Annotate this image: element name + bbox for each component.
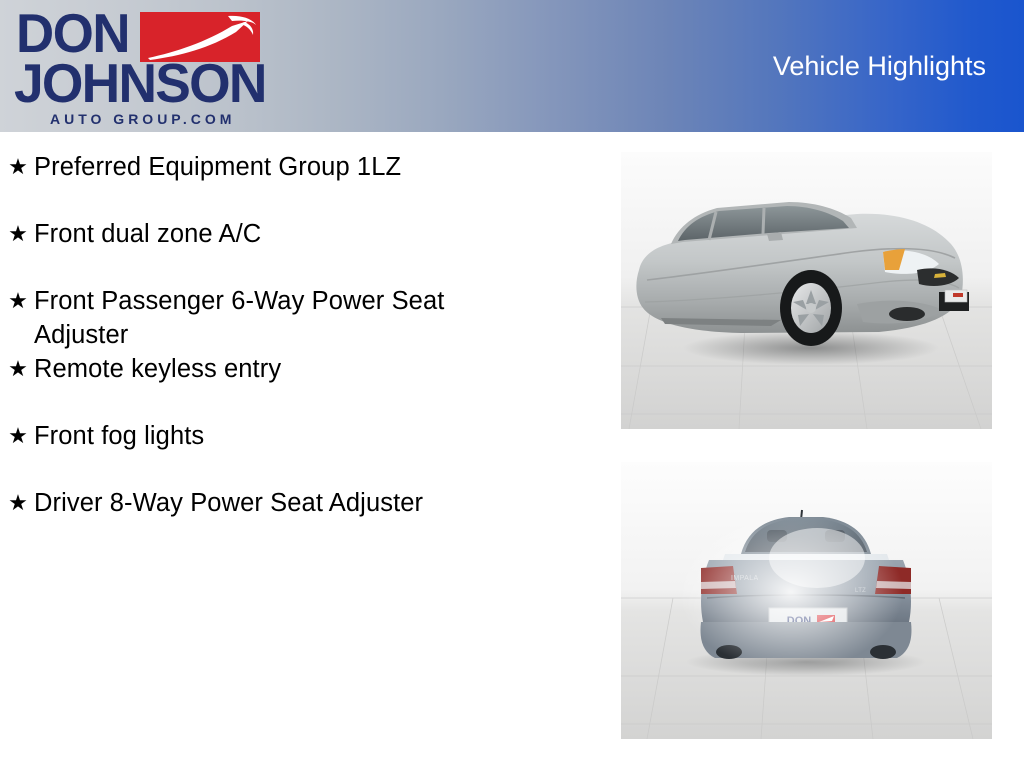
vehicle-features-list: ★ Preferred Equipment Group 1LZ ★ Front …	[0, 150, 600, 553]
vehicle-photo-rear[interactable]: IMPALA LTZ DON JOHNSON	[621, 462, 992, 739]
logo-text-line2: JOHNSON	[14, 56, 266, 111]
star-bullet-icon: ★	[0, 217, 34, 251]
list-item: ★ Preferred Equipment Group 1LZ	[0, 150, 600, 217]
logo-tagline: AUTO GROUP.COM	[50, 112, 235, 127]
star-bullet-icon: ★	[0, 150, 34, 184]
vehicle-photo-front-three-quarter[interactable]	[621, 152, 992, 429]
star-bullet-icon: ★	[0, 352, 34, 386]
feature-label: Preferred Equipment Group 1LZ	[34, 150, 600, 184]
page-header: DON JOHNSON AUTO GROUP.COM Vehicle Highl…	[0, 0, 1024, 132]
list-item: ★ Front fog lights	[0, 419, 600, 486]
dealer-logo[interactable]: DON JOHNSON AUTO GROUP.COM	[14, 6, 264, 128]
star-bullet-icon: ★	[0, 284, 34, 318]
star-bullet-icon: ★	[0, 419, 34, 453]
feature-label: Driver 8-Way Power Seat Adjuster	[34, 486, 600, 520]
feature-label: Front Passenger 6-Way Power Seat Adjuste…	[34, 284, 600, 352]
list-item: ★ Driver 8-Way Power Seat Adjuster	[0, 486, 600, 553]
feature-label: Front dual zone A/C	[34, 217, 600, 251]
list-item: ★ Remote keyless entry	[0, 352, 600, 419]
feature-label: Front fog lights	[34, 419, 600, 453]
star-bullet-icon: ★	[0, 486, 34, 520]
list-item: ★ Front dual zone A/C	[0, 217, 600, 284]
list-item: ★ Front Passenger 6-Way Power Seat Adjus…	[0, 284, 600, 352]
page-title: Vehicle Highlights	[773, 50, 986, 82]
feature-label: Remote keyless entry	[34, 352, 600, 386]
vehicle-highlights-slide: DON JOHNSON AUTO GROUP.COM Vehicle Highl…	[0, 0, 1024, 768]
